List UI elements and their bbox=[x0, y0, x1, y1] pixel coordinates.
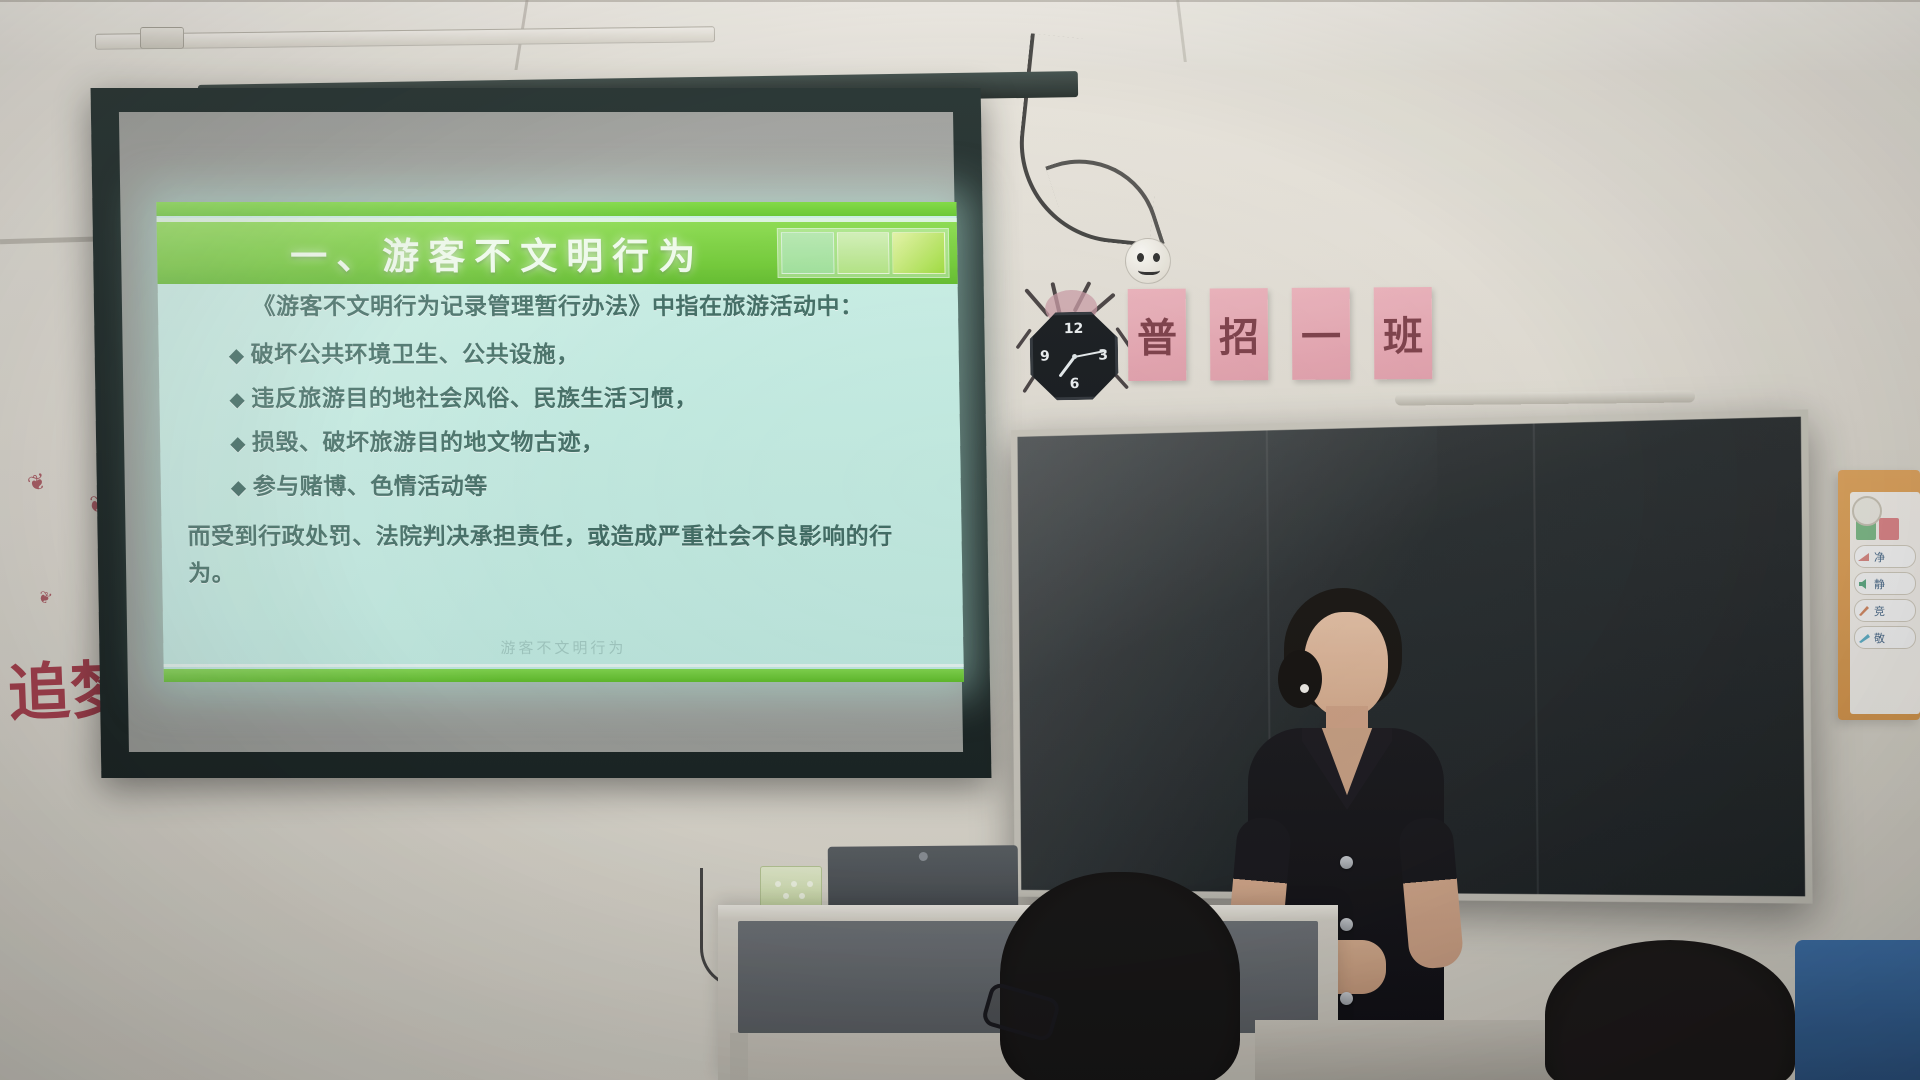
presentation-slide: 一、游客不文明行为 《游客不文明行为记录管理暂行办法》中指在旅游活动中： ◆ 破… bbox=[156, 202, 964, 682]
dress-button bbox=[1340, 992, 1353, 1005]
list-item-label: 违反旅游目的地社会风俗、民族生活习惯， bbox=[251, 377, 698, 421]
desk-accessory bbox=[760, 866, 822, 910]
list-item-label: 破坏公共环境卫生、公共设施， bbox=[250, 333, 580, 377]
poster-row-label: 敬 bbox=[1874, 630, 1885, 646]
clock-numeral-12: 12 bbox=[1064, 321, 1084, 337]
accessory-dot bbox=[783, 893, 789, 899]
poster-row: 净 bbox=[1854, 545, 1916, 568]
ceiling-seam bbox=[0, 0, 1920, 2]
student-desk bbox=[1255, 1020, 1585, 1080]
student-head-front bbox=[1000, 872, 1240, 1080]
diamond-bullet-icon: ◆ bbox=[230, 465, 247, 509]
slide-watermark: 游客不文明行为 bbox=[500, 637, 626, 658]
diamond-bullet-icon: ◆ bbox=[229, 377, 246, 421]
list-item: ◆ 损毁、破坏旅游目的地文物古迹， bbox=[230, 421, 935, 465]
classroom-rules-poster: 净 静 竞 敬 bbox=[1838, 470, 1920, 720]
projection-screen: 一、游客不文明行为 《游客不文明行为记录管理暂行办法》中指在旅游活动中： ◆ 破… bbox=[91, 88, 992, 778]
blackboard-panel-seam bbox=[1532, 424, 1538, 895]
butterfly-decal: ❦ bbox=[35, 586, 55, 610]
dress-button bbox=[1340, 918, 1353, 931]
poster-row: 竞 bbox=[1854, 599, 1916, 622]
thumbnail-image bbox=[837, 232, 890, 274]
accessory-dot bbox=[799, 893, 805, 899]
smiley-mouth bbox=[1138, 263, 1160, 275]
poster-row-label: 净 bbox=[1874, 549, 1885, 565]
class-card: 班 bbox=[1374, 287, 1433, 379]
blackboard-chalk-rail bbox=[1395, 390, 1695, 405]
class-name-cards: 普 招 一 班 bbox=[1128, 287, 1433, 381]
slide-bottom-bar bbox=[164, 669, 964, 682]
podium-leg bbox=[730, 1033, 748, 1080]
slide-closing-paragraph: 而受到行政处罚、法院判决承担责任，或造成严重社会不良影响的行为。 bbox=[187, 519, 936, 593]
poster-row-label: 静 bbox=[1874, 576, 1885, 592]
wall-clock: 12 3 6 9 bbox=[1021, 299, 1127, 405]
list-item-label: 损毁、破坏旅游目的地文物古迹， bbox=[252, 421, 605, 465]
accessory-dot bbox=[791, 881, 797, 887]
list-item-label: 参与赌博、色情活动等 bbox=[252, 465, 488, 509]
class-card: 一 bbox=[1292, 288, 1351, 380]
poster-row-label: 竞 bbox=[1874, 603, 1885, 619]
slide-top-bar bbox=[156, 202, 956, 216]
slide-body: 《游客不文明行为记录管理暂行办法》中指在旅游活动中： ◆ 破坏公共环境卫生、公共… bbox=[158, 290, 963, 594]
accessory-dot bbox=[775, 881, 781, 887]
diamond-bullet-icon: ◆ bbox=[230, 421, 247, 465]
teacher-earring bbox=[1300, 684, 1309, 693]
hand-icon bbox=[1857, 632, 1871, 644]
list-item: ◆ 违反旅游目的地社会风俗、民族生活习惯， bbox=[229, 377, 934, 421]
poster-content: 净 静 竞 敬 bbox=[1850, 492, 1920, 714]
arrow-icon bbox=[1857, 551, 1871, 563]
clock-hour-hand bbox=[1058, 357, 1075, 378]
thumbnail-image bbox=[892, 232, 945, 274]
classroom-chair bbox=[1795, 940, 1920, 1080]
slide-bottom-bar-accent bbox=[164, 664, 964, 667]
list-item: ◆ 破坏公共环境卫生、公共设施， bbox=[228, 333, 933, 377]
poster-row: 静 bbox=[1854, 572, 1916, 595]
laptop-camera bbox=[919, 852, 928, 861]
list-item: ◆ 参与赌博、色情活动等 bbox=[230, 465, 935, 509]
clock-numeral-9: 9 bbox=[1040, 348, 1050, 364]
class-card: 普 bbox=[1128, 289, 1187, 381]
clock-numeral-6: 6 bbox=[1070, 376, 1080, 392]
dress-button bbox=[1340, 856, 1353, 869]
butterfly-decal: ❦ bbox=[24, 468, 50, 498]
speaker-icon bbox=[1857, 578, 1871, 590]
pencil-icon bbox=[1857, 605, 1871, 617]
smiley-eye bbox=[1153, 253, 1160, 262]
class-card: 招 bbox=[1210, 288, 1269, 380]
poster-stamp bbox=[1879, 518, 1899, 540]
poster-row: 敬 bbox=[1854, 626, 1916, 649]
diamond-bullet-icon: ◆ bbox=[228, 333, 245, 377]
smiley-eye bbox=[1137, 253, 1144, 262]
clock-center-pin bbox=[1072, 353, 1077, 358]
slide-header-thumbnails bbox=[777, 228, 950, 278]
classroom-scene: ❦ ❦ ❦ ❦ ❦ 追梦 一、游客不文明行为 《游客不文明行为记录管理暂行办法》… bbox=[0, 0, 1920, 1080]
teacher-hair-bun bbox=[1278, 650, 1322, 708]
conduit-junction-box bbox=[140, 27, 184, 49]
thumbnail-image bbox=[781, 232, 834, 274]
accessory-dot bbox=[807, 881, 813, 887]
student-head-right bbox=[1545, 940, 1795, 1080]
laptop[interactable] bbox=[828, 845, 1019, 909]
slide-lead-text: 《游客不文明行为记录管理暂行办法》中指在旅游活动中： bbox=[184, 290, 933, 324]
projection-screen-surface: 一、游客不文明行为 《游客不文明行为记录管理暂行办法》中指在旅游活动中： ◆ 破… bbox=[119, 112, 963, 752]
poster-clock-icon bbox=[1852, 496, 1882, 526]
slide-bullet-list: ◆ 破坏公共环境卫生、公共设施， ◆ 违反旅游目的地社会风俗、民族生活习惯， ◆… bbox=[184, 333, 935, 510]
